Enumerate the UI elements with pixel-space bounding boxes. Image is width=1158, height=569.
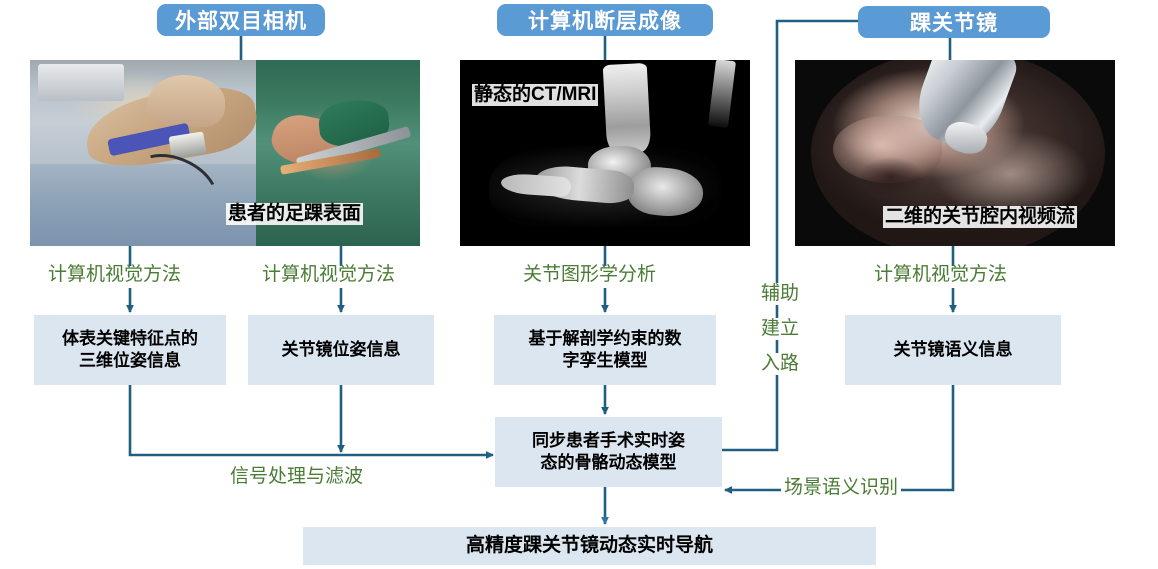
- output-box-navigation-text: 高精度踝关节镜动态实时导航: [466, 534, 713, 558]
- source-image-arthroscopy[interactable]: 二维的关节腔内视频流: [795, 60, 1115, 246]
- caption-2d-intraarticular-video: 二维的关节腔内视频流: [883, 206, 1077, 228]
- header-pill-arthroscope[interactable]: 踝关节镜: [858, 6, 1050, 38]
- source-image-operating-room[interactable]: 患者的足踝表面: [30, 60, 420, 246]
- line-1: 体表关键特征点的: [62, 328, 198, 350]
- process-box-arthroscope-pose[interactable]: 关节镜位姿信息: [248, 315, 434, 385]
- line-1: 基于解剖学约束的数: [529, 328, 682, 350]
- process-box-surface-keypoint-pose-text: 体表关键特征点的 三维位姿信息: [62, 328, 198, 372]
- edge-label-joint-graphics: 关节图形学分析: [523, 264, 656, 286]
- process-box-surface-keypoint-pose[interactable]: 体表关键特征点的 三维位姿信息: [34, 315, 226, 385]
- process-box-arthroscope-semantics-text: 关节镜语义信息: [894, 339, 1013, 361]
- process-box-realtime-skeletal-model-text: 同步患者手术实时姿 态的骨骼动态模型: [532, 430, 685, 474]
- ct-tibia: [603, 63, 651, 154]
- or-monitor: [38, 64, 124, 101]
- header-pill-ct[interactable]: 计算机断层成像: [497, 4, 713, 36]
- line-2: 三维位姿信息: [62, 350, 198, 372]
- line-2: 态的骨骼动态模型: [532, 452, 685, 474]
- process-box-realtime-skeletal-model[interactable]: 同步患者手术实时姿 态的骨骼动态模型: [495, 417, 722, 487]
- edge-label-cv-method-3: 计算机视觉方法: [874, 264, 1007, 286]
- wire-surface-pose-to-fusion: [130, 385, 493, 455]
- caption-patient-ankle-surface: 患者的足踝表面: [226, 203, 363, 225]
- process-box-arthroscope-pose-text: 关节镜位姿信息: [282, 339, 401, 361]
- scope-shadow-region: [859, 157, 923, 198]
- process-box-digital-twin[interactable]: 基于解剖学约束的数 字孪生模型: [494, 315, 716, 385]
- ct-upper-structure: [708, 60, 736, 128]
- edge-label-scene-semantics: 场景语义识别: [781, 477, 901, 499]
- process-box-digital-twin-text: 基于解剖学约束的数 字孪生模型: [529, 328, 682, 372]
- or-patient-foot: [147, 75, 225, 127]
- edge-label-assist-line-3: 入路: [755, 353, 805, 375]
- edge-label-assist-line-2: 建立: [755, 318, 805, 340]
- edge-label-cv-method-2: 计算机视觉方法: [262, 264, 395, 286]
- source-image-ct[interactable]: 静态的CT/MRI: [460, 60, 750, 246]
- edge-label-signal-filtering: 信号处理与滤波: [230, 466, 363, 488]
- line-1: 同步患者手术实时姿: [532, 430, 685, 452]
- diagram-canvas: 外部双目相机 计算机断层成像 踝关节镜 患者的足踝表面 静态的CT/MRI: [0, 0, 1158, 569]
- line-2: 字孪生模型: [529, 350, 682, 372]
- wire-scope-sem-to-fusion: [725, 385, 953, 490]
- edge-label-cv-method-1: 计算机视觉方法: [48, 264, 181, 286]
- caption-static-ct-mri: 静态的CT/MRI: [472, 84, 598, 106]
- header-pill-camera[interactable]: 外部双目相机: [157, 4, 325, 36]
- process-box-arthroscope-semantics[interactable]: 关节镜语义信息: [845, 315, 1061, 385]
- output-box-navigation[interactable]: 高精度踝关节镜动态实时导航: [303, 527, 876, 565]
- edge-label-assist-line-1: 辅助: [755, 283, 805, 305]
